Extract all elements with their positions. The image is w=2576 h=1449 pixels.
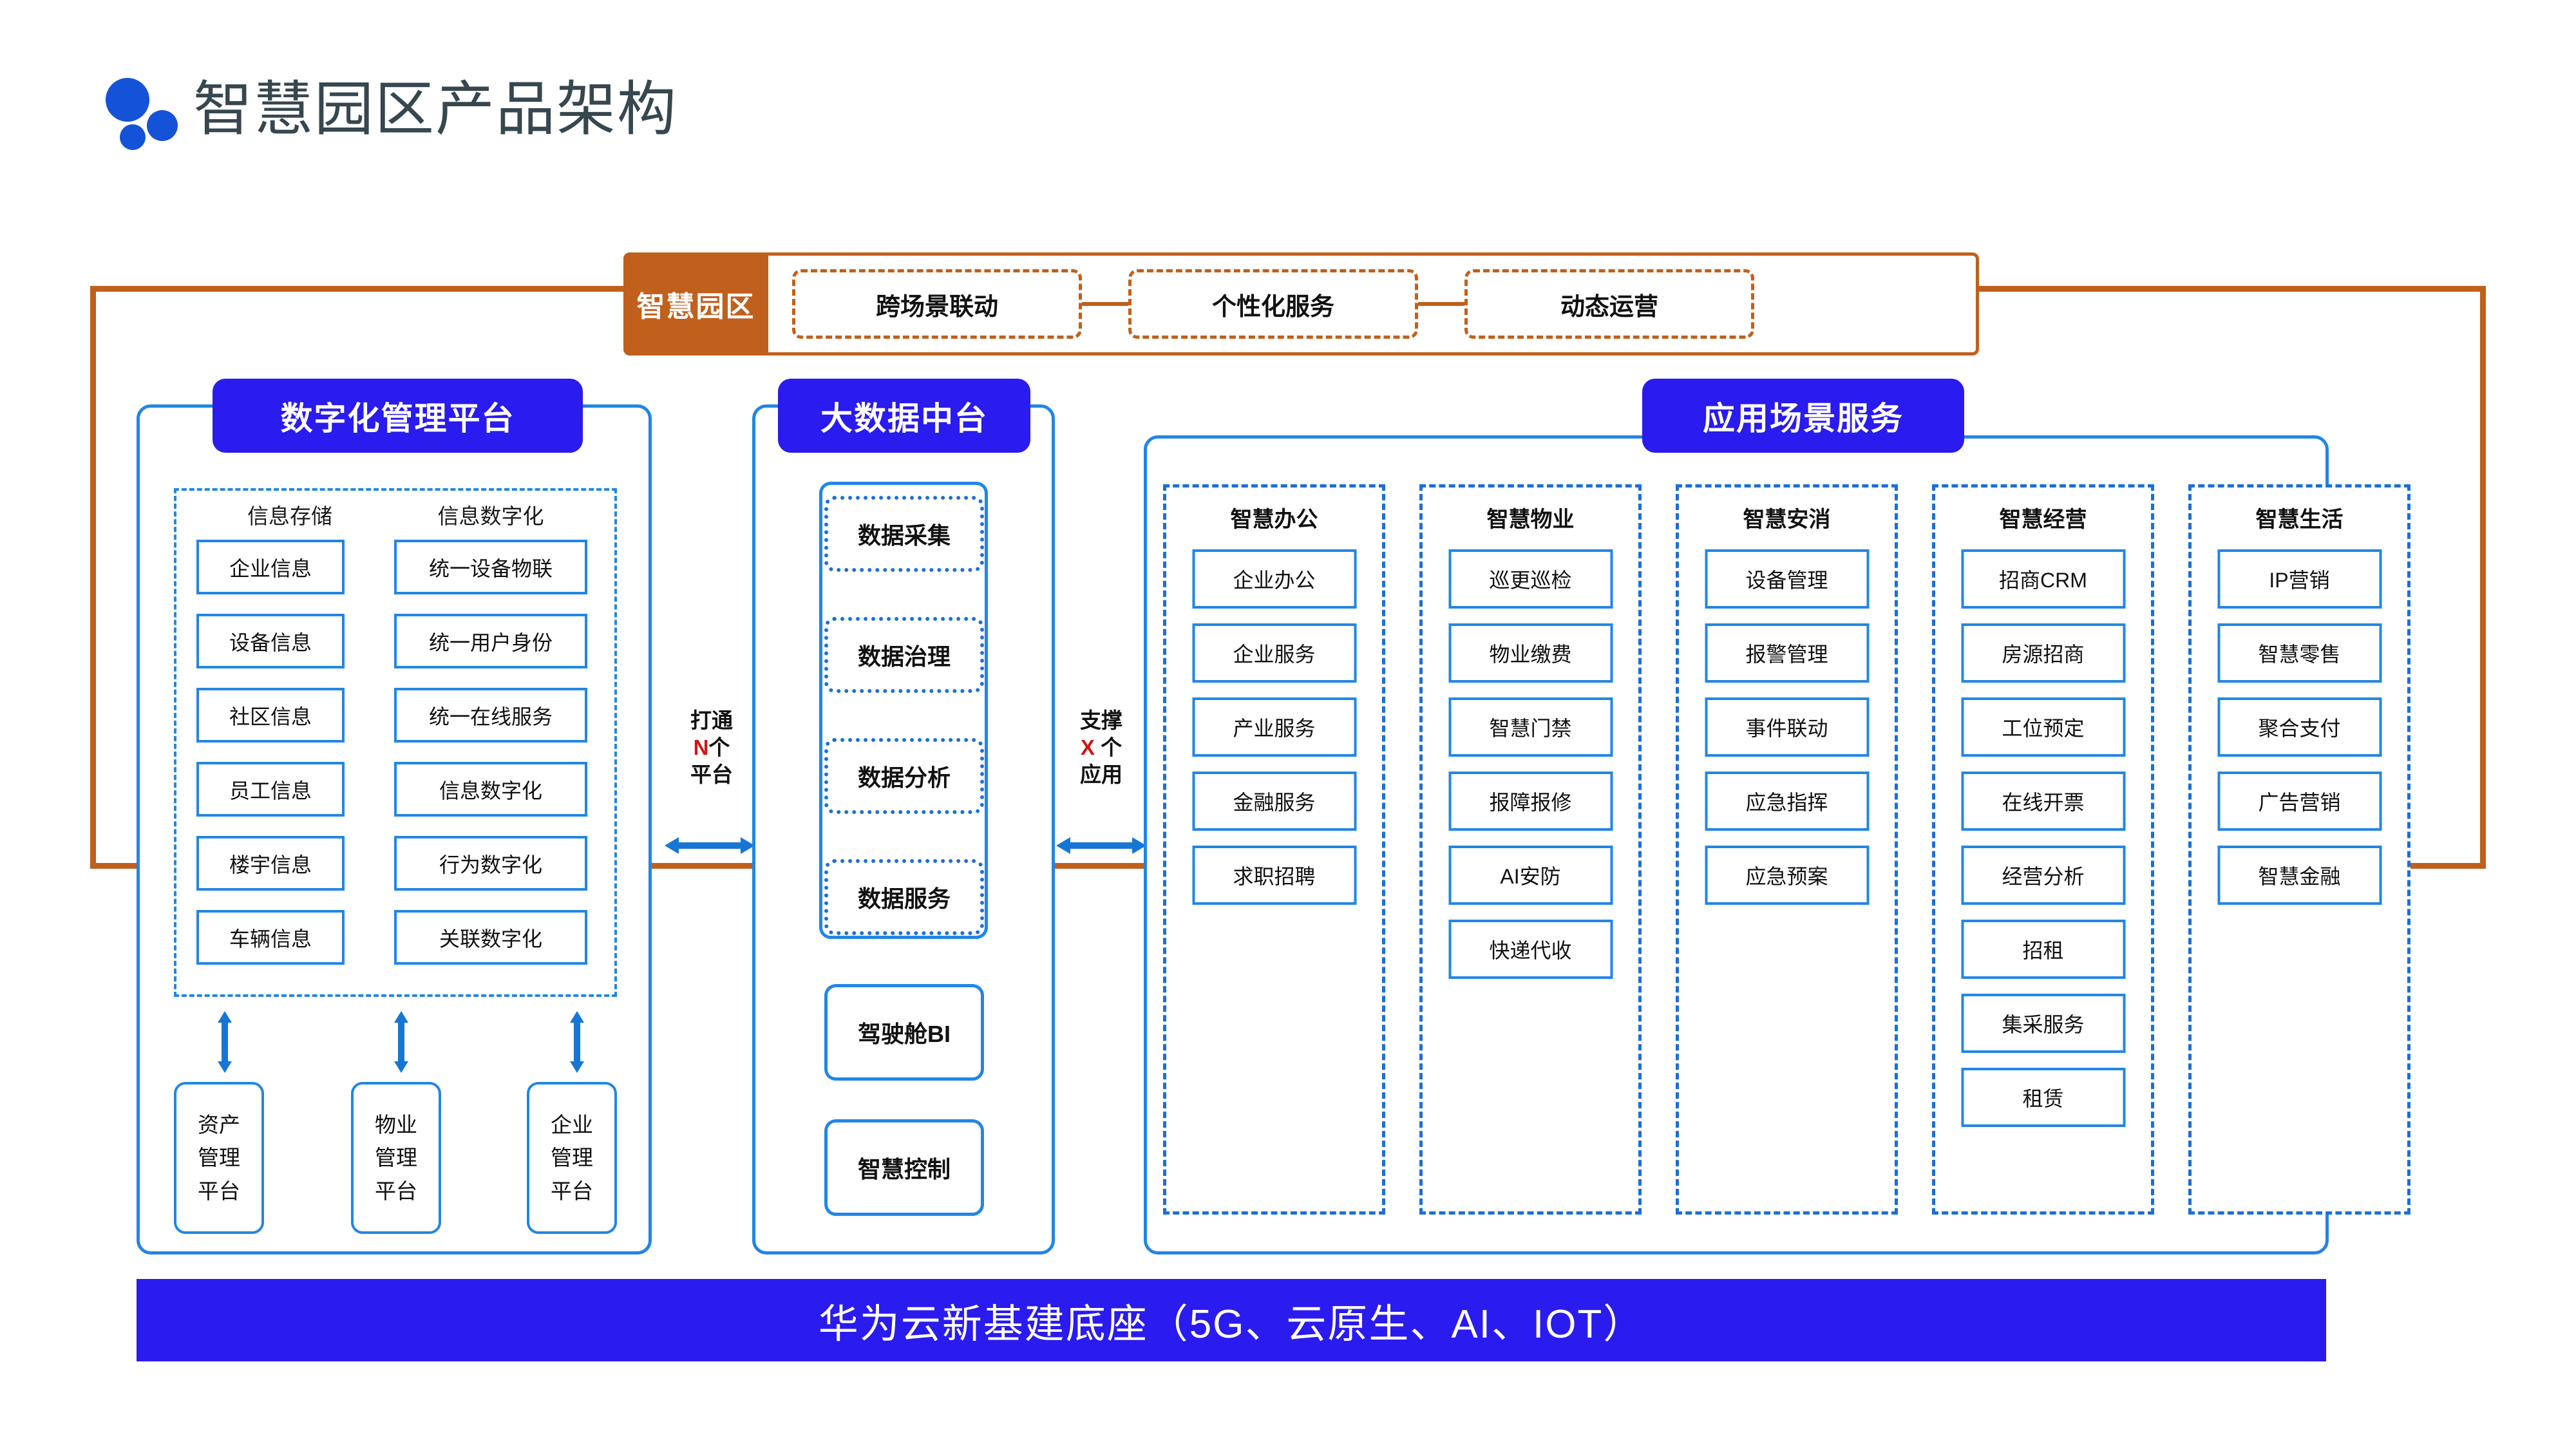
app-operation-5[interactable]: 招租	[1961, 920, 2125, 979]
orange-bracket-top-left	[90, 286, 625, 292]
platform-line: 资产	[198, 1108, 240, 1141]
platform-line: 管理	[375, 1141, 417, 1174]
group-head-smart-office: 智慧办公	[1166, 502, 1382, 533]
cell-storage-0[interactable]: 企业信息	[196, 540, 345, 594]
column-head-digitization: 信息数字化	[394, 499, 587, 530]
horizontal-double-arrow-icon	[1056, 837, 1146, 854]
feature-box-cross-scene[interactable]: 跨场景联动	[792, 269, 1082, 339]
platform-box-enterprise[interactable]: 企业 管理 平台	[527, 1082, 617, 1234]
app-safety-3[interactable]: 应急指挥	[1705, 772, 1869, 831]
app-office-4[interactable]: 求职招聘	[1192, 846, 1356, 905]
app-life-4[interactable]: 智慧金融	[2217, 846, 2382, 905]
app-office-3[interactable]: 金融服务	[1192, 772, 1356, 831]
cell-storage-3[interactable]: 员工信息	[196, 762, 345, 817]
platform-box-asset[interactable]: 资产 管理 平台	[174, 1082, 264, 1234]
platform-box-property[interactable]: 物业 管理 平台	[351, 1082, 441, 1234]
app-operation-7[interactable]: 租赁	[1961, 1068, 2125, 1127]
app-property-3[interactable]: 报障报修	[1448, 772, 1613, 831]
page-header: 智慧园区产品架构	[97, 68, 677, 151]
app-safety-0[interactable]: 设备管理	[1705, 549, 1869, 609]
cell-digitization-5[interactable]: 关联数字化	[394, 910, 587, 965]
horizontal-double-arrow-icon	[665, 837, 755, 854]
app-property-2[interactable]: 智慧门禁	[1448, 697, 1613, 757]
panel-title-application-scenarios: 应用场景服务	[1642, 379, 1964, 453]
group-head-smart-safety: 智慧安消	[1679, 502, 1895, 533]
platform-line: 管理	[198, 1141, 240, 1174]
app-property-5[interactable]: 快递代收	[1448, 920, 1613, 979]
cell-digitization-0[interactable]: 统一设备物联	[394, 540, 587, 594]
double-arrow-icon	[570, 1011, 584, 1073]
feature-box-dynamic-ops[interactable]: 动态运营	[1464, 269, 1754, 339]
platform-line: 管理	[551, 1141, 593, 1174]
mid-cell-data-service[interactable]: 数据服务	[824, 859, 984, 935]
app-operation-2[interactable]: 工位预定	[1961, 697, 2125, 757]
app-property-4[interactable]: AI安防	[1448, 846, 1613, 905]
orange-bracket-top-right	[1977, 286, 2486, 292]
group-smart-life: 智慧生活 IP营销 智慧零售 聚合支付 广告营销 智慧金融	[2188, 484, 2410, 1215]
group-smart-safety: 智慧安消 设备管理 报警管理 事件联动 应急指挥 应急预案	[1676, 484, 1898, 1215]
group-head-smart-property: 智慧物业	[1423, 502, 1638, 533]
feature-box-personalized[interactable]: 个性化服务	[1128, 269, 1418, 339]
app-property-1[interactable]: 物业缴费	[1448, 623, 1613, 683]
double-arrow-icon	[218, 1011, 232, 1073]
footer-foundation-bar: 华为云新基建底座（5G、云原生、AI、IOT）	[137, 1279, 2326, 1361]
page-title: 智慧园区产品架构	[193, 80, 677, 139]
platform-line: 平台	[551, 1175, 593, 1207]
platform-line: 企业	[551, 1108, 593, 1141]
mid-cell-data-collection[interactable]: 数据采集	[824, 496, 984, 572]
app-safety-1[interactable]: 报警管理	[1705, 623, 1869, 683]
cell-digitization-2[interactable]: 统一在线服务	[394, 688, 587, 743]
panel-title-big-data-midend: 大数据中台	[778, 379, 1030, 453]
platform-line: 物业	[375, 1108, 417, 1141]
cell-storage-2[interactable]: 社区信息	[196, 688, 345, 743]
connector-label-right: 支撑 X 个 应用	[1059, 707, 1143, 789]
app-life-2[interactable]: 聚合支付	[2217, 697, 2382, 757]
cell-storage-1[interactable]: 设备信息	[196, 614, 345, 668]
cell-digitization-1[interactable]: 统一用户身份	[394, 614, 587, 668]
connector-label-left: 打通 N个 平台	[670, 707, 753, 789]
mid-cell-data-governance[interactable]: 数据治理	[824, 617, 984, 693]
diagram-canvas: 智慧园区产品架构 智慧园区 跨场景联动 个性化服务 动态运营 数字化管理平台 信…	[0, 0, 2576, 1449]
app-property-0[interactable]: 巡更巡检	[1448, 549, 1613, 609]
app-operation-3[interactable]: 在线开票	[1961, 772, 2125, 831]
app-safety-4[interactable]: 应急预案	[1705, 846, 1869, 905]
app-operation-0[interactable]: 招商CRM	[1961, 549, 2125, 609]
smart-park-tag: 智慧园区	[623, 252, 768, 355]
mid-cell-data-analysis[interactable]: 数据分析	[824, 738, 984, 814]
cell-storage-5[interactable]: 车辆信息	[196, 910, 345, 965]
column-head-storage: 信息存储	[193, 499, 386, 530]
cell-digitization-3[interactable]: 信息数字化	[394, 762, 587, 817]
mid-box-cockpit-bi[interactable]: 驾驶舱BI	[824, 984, 984, 1081]
app-life-0[interactable]: IP营销	[2217, 549, 2382, 609]
app-office-0[interactable]: 企业办公	[1192, 549, 1356, 609]
cell-digitization-4[interactable]: 行为数字化	[394, 836, 587, 891]
group-head-smart-operation: 智慧经营	[1935, 502, 2151, 533]
app-office-2[interactable]: 产业服务	[1192, 697, 1356, 757]
cell-storage-4[interactable]: 楼宇信息	[196, 836, 345, 891]
platform-line: 平台	[375, 1175, 417, 1207]
double-arrow-icon	[394, 1011, 408, 1073]
three-dots-logo-icon	[97, 68, 193, 151]
group-head-smart-life: 智慧生活	[2192, 502, 2407, 533]
group-smart-property: 智慧物业 巡更巡检 物业缴费 智慧门禁 报障报修 AI安防 快递代收	[1419, 484, 1642, 1215]
panel-title-digital-management: 数字化管理平台	[213, 379, 583, 453]
app-operation-1[interactable]: 房源招商	[1961, 623, 2125, 683]
group-smart-office: 智慧办公 企业办公 企业服务 产业服务 金融服务 求职招聘	[1163, 484, 1385, 1215]
app-office-1[interactable]: 企业服务	[1192, 623, 1356, 683]
app-safety-2[interactable]: 事件联动	[1705, 697, 1869, 757]
platform-line: 平台	[198, 1175, 240, 1207]
mid-box-smart-control[interactable]: 智慧控制	[824, 1119, 984, 1216]
app-life-1[interactable]: 智慧零售	[2217, 623, 2382, 683]
connector-line	[1082, 302, 1128, 306]
smart-park-feature-list: 跨场景联动 个性化服务 动态运营	[792, 252, 1945, 355]
group-smart-operation: 智慧经营 招商CRM 房源招商 工位预定 在线开票 经营分析 招租 集采服务 租…	[1932, 484, 2154, 1215]
app-operation-4[interactable]: 经营分析	[1961, 846, 2125, 905]
app-life-3[interactable]: 广告营销	[2217, 772, 2382, 831]
connector-line	[1418, 302, 1464, 306]
app-operation-6[interactable]: 集采服务	[1961, 994, 2125, 1053]
